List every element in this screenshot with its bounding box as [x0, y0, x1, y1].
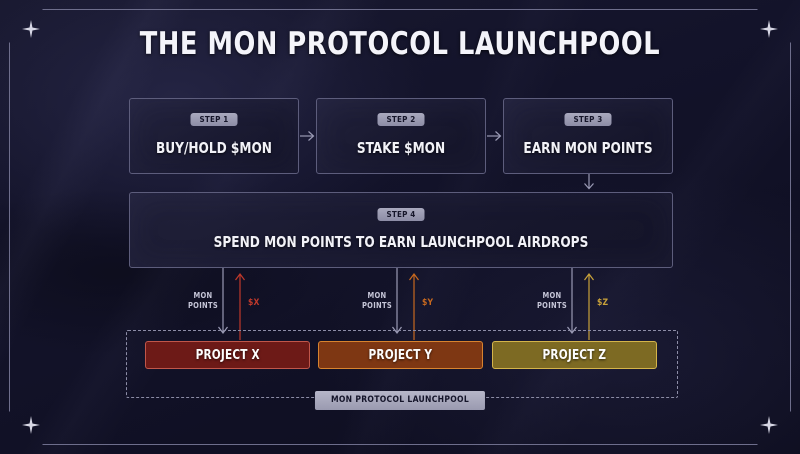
step-label-4: SPEND MON POINTS TO EARN LAUNCHPOOL AIRD… — [157, 233, 645, 251]
cost-label-x: $X — [248, 298, 260, 308]
step-badge-4: STEP 4 — [378, 208, 425, 221]
project-label-x: PROJECT X — [195, 348, 259, 363]
launchpool-footer-badge: MON PROTOCOL LAUNCHPOOL — [315, 391, 485, 410]
project-label-y: PROJECT Y — [369, 348, 433, 363]
mon-points-label-x: MON POINTS — [181, 291, 225, 311]
project-card-z[interactable]: PROJECT Z — [492, 341, 657, 369]
step-card-1[interactable]: STEP 1 BUY/HOLD $MON — [129, 98, 299, 174]
launchpool-infographic: THE MON PROTOCOL LAUNCHPOOL STEP 1 BUY/H… — [0, 0, 800, 454]
mon-points-label-z: MON POINTS — [530, 291, 574, 311]
project-label-z: PROJECT Z — [543, 348, 607, 363]
project-card-x[interactable]: PROJECT X — [145, 341, 310, 369]
step-card-4[interactable]: STEP 4 SPEND MON POINTS TO EARN LAUNCHPO… — [129, 192, 673, 268]
sparkle-icon — [22, 416, 40, 434]
cost-label-y: $Y — [422, 298, 433, 308]
step-badge-1: STEP 1 — [191, 113, 238, 126]
arrow-right-icon — [299, 128, 317, 144]
step-label-1: BUY/HOLD $MON — [138, 139, 289, 157]
step-card-3[interactable]: STEP 3 EARN MON POINTS — [503, 98, 673, 174]
project-card-y[interactable]: PROJECT Y — [318, 341, 483, 369]
step-card-2[interactable]: STEP 2 STAKE $MON — [316, 98, 486, 174]
mon-points-label-y: MON POINTS — [355, 291, 399, 311]
step-badge-3: STEP 3 — [565, 113, 612, 126]
step-label-2: STAKE $MON — [325, 139, 476, 157]
arrow-down-icon — [581, 174, 597, 192]
sparkle-icon — [760, 416, 778, 434]
step-label-3: EARN MON POINTS — [512, 139, 663, 157]
arrow-right-icon — [486, 128, 504, 144]
page-title: THE MON PROTOCOL LAUNCHPOOL — [32, 26, 768, 62]
cost-label-z: $Z — [597, 298, 608, 308]
step-badge-2: STEP 2 — [378, 113, 425, 126]
